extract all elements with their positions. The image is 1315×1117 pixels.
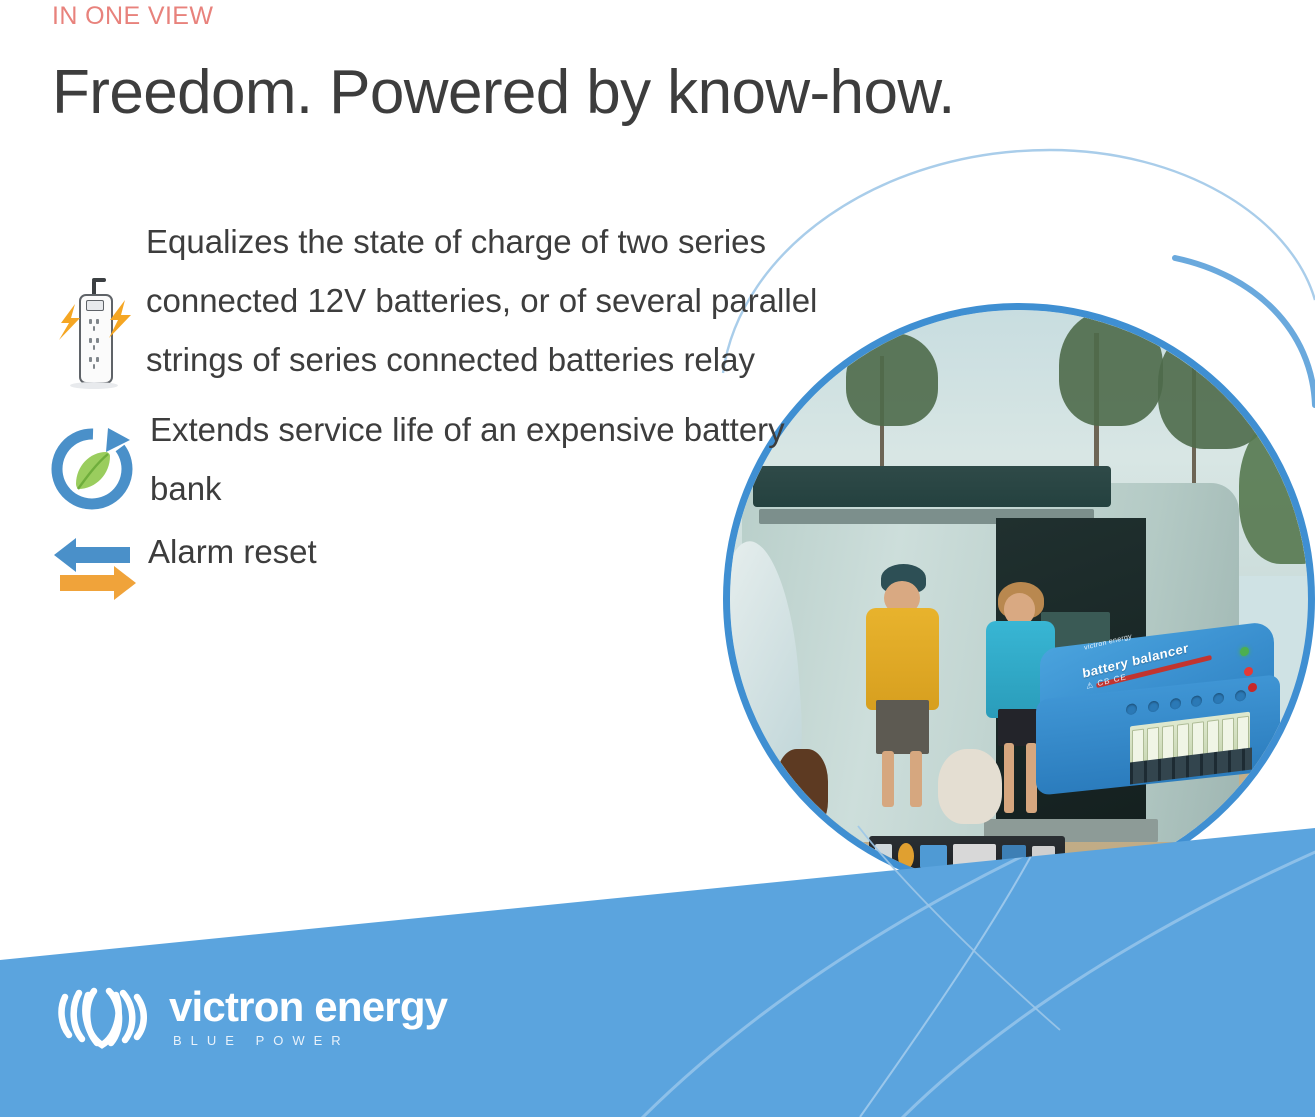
footer-wedge: [0, 0, 1315, 1117]
victron-swirl-icon: [55, 983, 151, 1049]
brand-text-block: victron energy BLUE POWER: [169, 986, 447, 1047]
brand-tagline: BLUE POWER: [169, 1034, 447, 1047]
victron-logo: victron energy BLUE POWER: [55, 983, 447, 1049]
brand-name: victron energy: [169, 986, 447, 1028]
product-infographic-page: IN ONE VIEW Freedom. Powered by know-how…: [0, 0, 1315, 1117]
